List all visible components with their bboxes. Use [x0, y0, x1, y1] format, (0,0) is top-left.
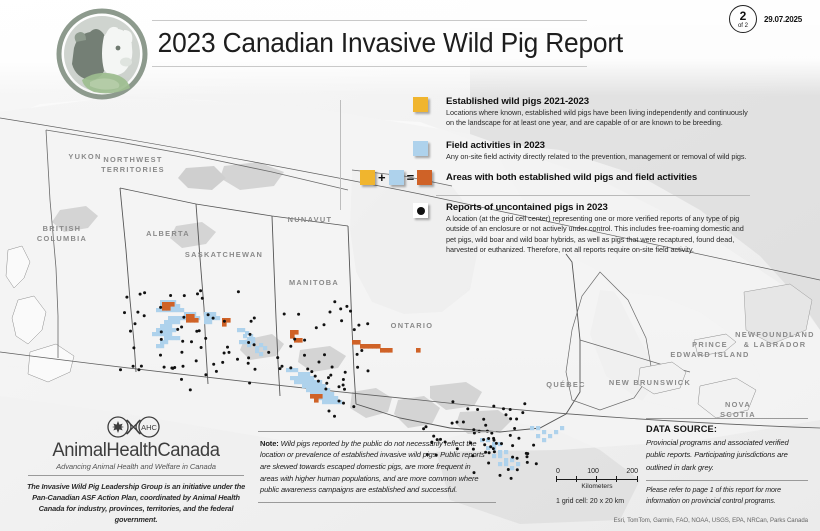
map-grid-cell	[560, 426, 564, 430]
report-dot	[253, 317, 256, 320]
report-dot	[511, 444, 514, 447]
map-grid-cell	[156, 328, 160, 332]
map-grid-cell	[516, 462, 520, 466]
report-dot	[250, 320, 253, 323]
report-dot	[276, 356, 279, 359]
report-dot	[171, 367, 174, 370]
legend-title-established: Established wild pigs 2021-2023	[446, 96, 750, 107]
note-rule-bottom	[258, 502, 496, 503]
report-dot	[314, 375, 317, 378]
map-grid-cell	[498, 462, 502, 466]
report-dot	[143, 291, 146, 294]
map-grid-cell	[156, 308, 160, 312]
established-wild-pigs-swatch	[413, 97, 428, 112]
report-dot	[119, 368, 122, 371]
report-dot	[169, 294, 172, 297]
map-grid-cell	[241, 328, 245, 332]
map-grid-cell	[243, 340, 247, 344]
report-dot	[499, 474, 502, 477]
report-dot	[349, 310, 352, 313]
map-grid-cell	[212, 312, 216, 316]
report-dot	[226, 346, 229, 349]
map-grid-cell	[380, 348, 385, 353]
report-dot	[182, 316, 185, 319]
map-grid-cell	[186, 318, 191, 323]
map-grid-cell	[302, 384, 306, 388]
map-grid-cell	[318, 384, 322, 388]
map-grid-cell	[190, 314, 195, 319]
report-dot	[212, 317, 215, 320]
combo-field-swatch	[389, 170, 404, 185]
map-grid-cell	[326, 400, 330, 404]
map-grid-cell	[542, 438, 546, 442]
report-dot	[357, 324, 360, 327]
report-dot	[200, 346, 203, 349]
map-grid-cell	[310, 394, 315, 399]
map-grid-cell	[204, 320, 208, 324]
map-grid-cell	[162, 302, 167, 307]
report-dot	[253, 343, 256, 346]
report-dot	[237, 290, 240, 293]
legend-title-field: Field activities in 2023	[446, 140, 750, 151]
report-dot	[502, 407, 505, 410]
map-grid-cell	[166, 306, 171, 311]
map-grid-cell	[330, 392, 334, 396]
report-dot-glyph	[417, 207, 425, 215]
map-grid-cell	[294, 368, 298, 372]
report-dot	[338, 400, 341, 403]
map-grid-cell	[290, 376, 294, 380]
map-grid-cell	[306, 380, 310, 384]
map-grid-cell	[164, 340, 168, 344]
map-grid-cell	[294, 330, 299, 335]
report-dot	[353, 328, 356, 331]
report-dot	[143, 314, 146, 317]
report-dot	[136, 311, 139, 314]
report-dot	[134, 322, 137, 325]
map-grid-cell	[164, 332, 168, 336]
report-dot	[466, 407, 469, 410]
legend-item-established: Established wild pigs 2021-2023 Location…	[350, 96, 750, 129]
scale-tick-100: 100	[587, 468, 599, 475]
report-dot	[236, 358, 239, 361]
report-dot	[306, 368, 309, 371]
report-dot	[180, 378, 183, 381]
note-body: Note: Wild pigs reported by the public d…	[258, 432, 496, 502]
map-grid-cell	[376, 344, 381, 349]
report-dot	[451, 400, 454, 403]
map-grid-cell	[416, 348, 421, 353]
report-dot	[425, 425, 428, 428]
map-grid-cell	[498, 454, 502, 458]
map-grid-cell	[356, 340, 361, 345]
map-grid-cell	[263, 346, 267, 350]
map-grid-cell	[204, 316, 208, 320]
map-grid-cell	[168, 316, 172, 320]
report-dot	[526, 452, 529, 455]
report-dot	[329, 311, 332, 314]
data-source-box: DATA SOURCE: Provincial programs and ass…	[646, 418, 808, 507]
report-dot	[159, 306, 162, 309]
report-dot	[129, 330, 132, 333]
report-dot	[356, 366, 359, 369]
map-grid-cell	[318, 388, 322, 392]
report-date: 29.07.2025	[764, 15, 802, 24]
report-dot	[535, 462, 538, 465]
report-dot	[247, 362, 250, 365]
map-grid-cell	[237, 328, 241, 332]
legend-item-field: Field activities in 2023 Any on-site fie…	[350, 140, 750, 162]
report-dot	[247, 341, 250, 344]
report-page: YUKONNORTHWEST TERRITORIESBRITISH COLUMB…	[0, 0, 820, 531]
map-grid-cell	[372, 344, 377, 349]
combo-established-swatch	[360, 170, 375, 185]
animal-health-canada-block: AHC AnimalHealthCanada Advancing Animal …	[22, 415, 250, 525]
map-grid-cell	[548, 434, 552, 438]
report-dot	[160, 338, 163, 341]
map-grid-cell	[294, 376, 298, 380]
map-grid-cell	[334, 396, 338, 400]
report-dot	[340, 319, 343, 322]
report-dot	[181, 340, 184, 343]
map-grid-cell	[164, 328, 168, 332]
map-grid-cell	[542, 430, 546, 434]
map-grid-cell	[208, 320, 212, 324]
map-grid-cell	[164, 324, 168, 328]
data-source-text: Provincial programs and associated verif…	[646, 437, 808, 474]
report-dot	[323, 323, 326, 326]
report-dot	[254, 368, 257, 371]
note-label: Note:	[260, 439, 279, 448]
map-grid-cell	[306, 376, 310, 380]
report-dot	[159, 354, 162, 357]
report-dot	[342, 378, 345, 381]
report-dot	[338, 385, 341, 388]
ahc-initiative-note: The Invasive Wild Pig Leadership Group i…	[22, 481, 250, 525]
legend-title-both: Areas with both established wild pigs an…	[446, 172, 750, 183]
map-grid-cell	[164, 320, 168, 324]
map-grid-cell	[176, 336, 180, 340]
report-dot	[318, 361, 321, 364]
report-dot	[221, 361, 224, 364]
report-dot	[510, 477, 513, 480]
report-dot	[132, 365, 135, 368]
map-grid-cell	[156, 332, 160, 336]
page-total: of 2	[738, 23, 748, 29]
data-source-rule-top	[646, 418, 808, 419]
report-dot	[248, 382, 251, 385]
ahc-infinity-logo: AHC	[22, 415, 250, 439]
map-grid-cell	[352, 340, 357, 345]
map-grid-cell	[160, 324, 164, 328]
map-grid-cell	[306, 384, 310, 388]
report-dot	[505, 413, 508, 416]
report-dot	[484, 424, 487, 427]
report-dot	[279, 367, 282, 370]
report-dot	[139, 293, 142, 296]
scale-bar-line	[556, 479, 638, 480]
report-dot	[195, 359, 198, 362]
map-grid-cell	[510, 466, 514, 470]
map-grid-cell	[176, 304, 180, 308]
report-dot	[176, 328, 179, 331]
report-dot	[182, 365, 185, 368]
report-dot	[180, 351, 183, 354]
map-grid-cell	[152, 332, 156, 336]
map-grid-cell	[180, 308, 184, 312]
map-grid-cell	[368, 344, 373, 349]
report-dot	[199, 289, 202, 292]
report-dot	[516, 457, 519, 460]
report-dot	[215, 370, 218, 373]
map-grid-cell	[170, 302, 175, 307]
map-grid-cell	[172, 320, 176, 324]
map-grid-cell	[318, 394, 323, 399]
legend-item-reports: Reports of uncontained pigs in 2023 A lo…	[350, 202, 750, 255]
report-dot	[492, 405, 495, 408]
map-grid-cell	[322, 396, 326, 400]
report-dot	[352, 405, 355, 408]
report-dot	[297, 313, 300, 316]
scale-tick-mark	[556, 476, 557, 482]
map-grid-cell	[314, 384, 318, 388]
map-grid-cell	[298, 338, 303, 343]
report-dot	[201, 297, 204, 300]
page-title: 2023 Canadian Invasive Wild Pig Report	[152, 21, 561, 66]
scale-bar-graphic	[556, 476, 638, 482]
report-dot	[509, 417, 512, 420]
map-grid-cell	[176, 320, 180, 324]
report-dot	[328, 410, 331, 413]
report-dot	[160, 330, 163, 333]
map-grid-cell	[298, 376, 302, 380]
scale-tick-labels: 0 100 200	[556, 468, 638, 476]
report-dot	[247, 356, 250, 359]
legend-desc-established: Locations where known, established wild …	[446, 108, 750, 129]
map-grid-cell	[168, 328, 172, 332]
report-dot	[509, 434, 512, 437]
map-attribution: Esri, TomTom, Garmin, FAO, NOAA, USGS, E…	[548, 517, 808, 524]
report-dot	[204, 337, 207, 340]
map-grid-cell	[326, 396, 330, 400]
page-circle: 2 of 2	[729, 5, 757, 33]
report-dot	[333, 415, 336, 418]
report-dot	[343, 388, 346, 391]
map-grid-cell	[298, 380, 302, 384]
report-dot	[196, 292, 199, 295]
scale-tick-mark	[616, 476, 617, 482]
map-grid-cell	[239, 340, 243, 344]
report-dot	[329, 374, 332, 377]
report-dot	[189, 388, 192, 391]
map-grid-cell	[255, 349, 259, 353]
map-grid-cell	[530, 426, 534, 430]
report-dot	[315, 326, 318, 329]
report-dot	[183, 294, 186, 297]
report-dot	[521, 411, 524, 414]
map-grid-cell	[166, 302, 171, 307]
report-dot	[476, 408, 479, 411]
public-reports-note: Note: Wild pigs reported by the public d…	[258, 431, 496, 503]
report-dot	[532, 444, 535, 447]
map-grid-cell	[302, 376, 306, 380]
report-dot	[344, 371, 347, 374]
map-grid-cell	[243, 334, 247, 338]
scale-tick-mark	[596, 476, 597, 482]
map-grid-cell	[186, 314, 191, 319]
map-grid-cell	[504, 458, 508, 462]
map-grid-cell	[226, 318, 231, 323]
report-dot	[317, 380, 320, 383]
map-grid-cell	[388, 348, 393, 353]
map-grid-cell	[330, 400, 334, 404]
map-grid-cell	[360, 344, 365, 349]
legend-divider	[340, 100, 341, 210]
map-grid-cell	[314, 394, 319, 399]
report-dot	[511, 456, 514, 459]
map-grid-cell	[314, 388, 318, 392]
legend-title-reports: Reports of uncontained pigs in 2023	[446, 202, 750, 213]
report-dot	[228, 351, 231, 354]
report-dot	[327, 376, 330, 379]
map-grid-cell	[164, 336, 168, 340]
data-source-rule-bottom	[646, 480, 808, 481]
legend-combo-equation: + =	[360, 170, 432, 185]
scale-tick-200: 200	[626, 468, 638, 475]
map-grid-cell	[302, 380, 306, 384]
report-dot	[310, 370, 313, 373]
report-dot	[283, 313, 286, 316]
scale-tick-mark	[637, 476, 638, 482]
grid-cell-note: 1 grid cell: 20 x 20 km	[556, 498, 662, 505]
map-grid-cell	[172, 316, 176, 320]
report-dot	[289, 366, 292, 369]
report-dot	[180, 326, 183, 329]
report-dot	[303, 354, 306, 357]
combo-result-swatch	[417, 170, 432, 185]
map-grid-cell	[247, 337, 251, 341]
map-grid-cell	[302, 372, 306, 376]
map-grid-cell	[310, 384, 314, 388]
report-dot	[132, 346, 135, 349]
report-dot	[517, 437, 520, 440]
page-number: 2	[740, 10, 747, 22]
map-grid-cell	[504, 462, 508, 466]
map-grid-cell	[326, 392, 330, 396]
map-grid-cell	[322, 400, 326, 404]
report-dot	[303, 339, 306, 342]
report-dot	[342, 384, 345, 387]
combo-equals-sign: =	[407, 171, 415, 184]
map-grid-cell	[294, 380, 298, 384]
map-grid-cell	[306, 372, 310, 376]
map-grid-cell	[162, 306, 167, 311]
map-grid-cell	[208, 316, 212, 320]
legend-desc-reports: A location (at the grid cell center) rep…	[446, 214, 750, 255]
report-dot	[456, 421, 459, 424]
map-grid-cell	[194, 318, 199, 323]
map-grid-cell	[290, 330, 295, 335]
report-dot	[339, 307, 342, 310]
report-dot	[366, 322, 369, 325]
report-dot	[137, 368, 140, 371]
report-dot	[223, 320, 226, 323]
report-dot	[516, 468, 519, 471]
map-grid-cell	[176, 316, 180, 320]
report-dot	[125, 296, 128, 299]
report-dot	[507, 468, 510, 471]
ahc-wordmark: AnimalHealthCanada	[25, 440, 246, 462]
report-dot	[462, 421, 465, 424]
report-dot	[526, 461, 529, 464]
scale-tick-mark	[576, 476, 577, 482]
scale-tick-0: 0	[556, 468, 560, 475]
map-grid-cell	[259, 343, 263, 347]
report-dot	[513, 427, 516, 430]
report-dot	[140, 365, 143, 368]
report-dot	[212, 363, 215, 366]
scale-unit-label: Kilometers	[556, 483, 638, 490]
map-grid-cell	[306, 388, 310, 392]
map-grid-cell	[172, 308, 176, 312]
report-dot	[289, 345, 292, 348]
map-grid-cell	[310, 388, 314, 392]
ahc-mark-label: AHC	[141, 423, 157, 432]
map-grid-cell	[168, 336, 172, 340]
map-grid-cell	[384, 348, 389, 353]
report-dot	[526, 455, 529, 458]
combo-plus-sign: +	[378, 171, 386, 184]
map-grid-cell	[172, 328, 176, 332]
map-grid-cell	[156, 344, 160, 348]
report-dot	[515, 418, 518, 421]
report-dot	[281, 365, 284, 368]
legend-item-both: + = Areas with both established wild pig…	[350, 170, 750, 190]
report-dot	[342, 402, 345, 405]
report-dot	[198, 329, 201, 332]
wild-pig-emblem	[56, 8, 148, 100]
report-dot	[324, 388, 327, 391]
page-indicator: 2 of 2 29.07.2025	[729, 5, 802, 33]
report-dot	[500, 442, 503, 445]
map-grid-cell	[298, 372, 302, 376]
map-grid-cell	[322, 392, 326, 396]
report-dot	[367, 369, 370, 372]
map-grid-cell	[536, 426, 540, 430]
title-block: 2023 Canadian Invasive Wild Pig Report	[152, 20, 587, 67]
report-dot	[345, 305, 348, 308]
report-dot	[451, 422, 454, 425]
report-dot	[267, 351, 270, 354]
report-dot	[509, 408, 512, 411]
data-source-title: DATA SOURCE:	[646, 424, 808, 434]
map-legend: Established wild pigs 2021-2023 Location…	[350, 96, 750, 261]
report-dot	[325, 382, 328, 385]
ahc-tagline: Advancing Animal Health and Welfare in C…	[22, 462, 250, 471]
map-grid-cell	[536, 434, 540, 438]
report-dot	[190, 340, 193, 343]
report-dot	[163, 366, 166, 369]
legend-separator	[436, 195, 750, 196]
report-dot	[523, 402, 526, 405]
map-grid-cell	[510, 458, 514, 462]
report-dot	[356, 353, 359, 356]
map-grid-cell	[364, 344, 369, 349]
map-grid-cell	[190, 318, 195, 323]
field-activities-swatch	[413, 141, 428, 156]
report-dot	[123, 311, 126, 314]
report-dot	[333, 300, 336, 303]
